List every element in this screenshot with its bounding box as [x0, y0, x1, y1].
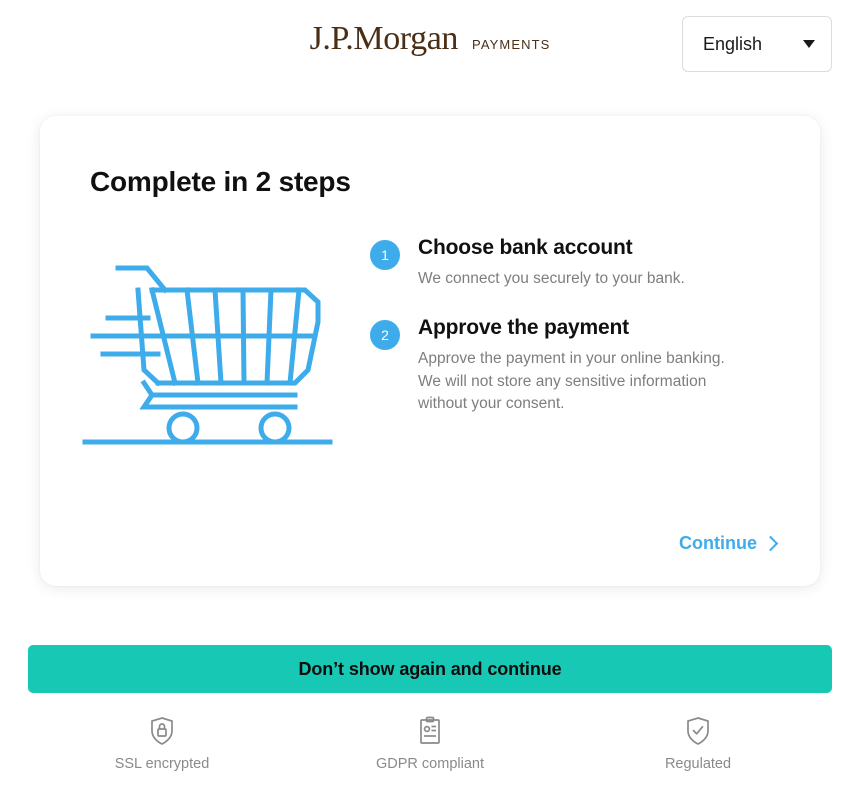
clipboard-document-icon [417, 716, 443, 746]
card-body: 1 Choose bank account We connect you sec… [40, 236, 820, 465]
step-item: 2 Approve the payment Approve the paymen… [370, 316, 780, 415]
footer-item-gdpr: GDPR compliant [296, 716, 564, 772]
language-select-value: English [703, 34, 762, 55]
shopping-cart-icon [80, 250, 345, 460]
footer-item-ssl: SSL encrypted [28, 716, 296, 772]
page-title: Complete in 2 steps [90, 166, 351, 198]
step-text: Choose bank account We connect you secur… [418, 236, 780, 290]
chevron-right-icon [763, 535, 779, 551]
brand-logo: J.P.Morgan PAYMENTS [310, 20, 551, 58]
continue-label: Continue [679, 533, 757, 554]
step-text: Approve the payment Approve the payment … [418, 316, 780, 415]
shopping-cart-illustration [40, 236, 370, 465]
shield-lock-icon [149, 716, 175, 746]
footer-label: GDPR compliant [376, 756, 484, 772]
step-number-badge: 1 [370, 240, 400, 270]
footer-label: Regulated [665, 756, 731, 772]
steps-list: 1 Choose bank account We connect you sec… [370, 236, 820, 416]
shield-check-icon [685, 716, 711, 746]
step-title: Choose bank account [418, 236, 780, 260]
footer-label: SSL encrypted [115, 756, 210, 772]
trust-footer: SSL encrypted GDPR compliant Regulated [28, 716, 832, 772]
brand-name: J.P.Morgan [310, 20, 458, 58]
brand-sublabel: PAYMENTS [472, 37, 550, 52]
step-number-badge: 2 [370, 320, 400, 350]
step-description: Approve the payment in your online banki… [418, 348, 738, 415]
step-title: Approve the payment [418, 316, 780, 340]
footer-item-regulated: Regulated [564, 716, 832, 772]
continue-link[interactable]: Continue [679, 533, 776, 554]
chevron-down-icon [803, 40, 815, 48]
language-select[interactable]: English [682, 16, 832, 72]
step-item: 1 Choose bank account We connect you sec… [370, 236, 780, 290]
steps-card: Complete in 2 steps [40, 116, 820, 586]
dont-show-again-button[interactable]: Don’t show again and continue [28, 645, 832, 693]
page-header: J.P.Morgan PAYMENTS English [0, 0, 860, 88]
step-description: We connect you securely to your bank. [418, 268, 738, 290]
